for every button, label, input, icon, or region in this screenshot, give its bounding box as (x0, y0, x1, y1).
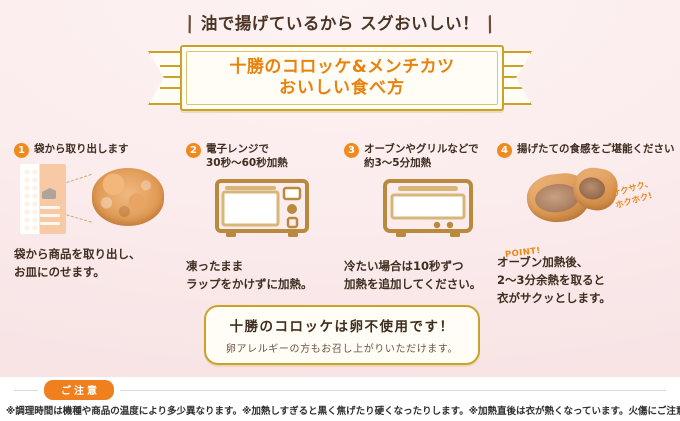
microwave-icon (214, 178, 310, 240)
dashed-line-icon (66, 174, 91, 183)
dashed-line-icon (66, 214, 91, 222)
package-icon (20, 164, 66, 234)
step-1-body: 袋から商品を取り出し、 お皿にのせます。 (14, 246, 182, 282)
step-2: 2 電子レンジで 30秒〜60秒加熱 凍ったまま ラップをかけずに加熱。 (186, 142, 338, 294)
step-4-artwork: サクサク、 ホクホク! POINT! (497, 162, 675, 240)
step-3-body: 冷たい場合は10秒ずつ 加熱を追加してください。 (344, 258, 512, 294)
step-4-number-badge: 4 (497, 143, 512, 158)
egg-free-subtext: 卵アレルギーの方もお召し上がりいただけます。 (226, 340, 458, 355)
step-2-header: 2 電子レンジで 30秒〜60秒加熱 (186, 142, 338, 170)
caution-badge: ご注意 (44, 380, 114, 400)
step-3-number-badge: 3 (344, 143, 359, 158)
step-1-header: 1 袋から取り出します (14, 142, 182, 158)
step-1-title: 袋から取り出します (34, 142, 129, 156)
step-2-artwork (186, 174, 338, 252)
tagline-slash-right: / (483, 11, 498, 36)
divider (14, 390, 38, 391)
tagline: \油で揚げているから スグおいしい！/ (0, 10, 680, 36)
ribbon-plate: 十勝のコロッケ&メンチカツ おいしい食べ方 (180, 45, 504, 111)
caution-note-3: ※加熱直後は衣が熱くなっています。火傷にご注意ください。 (469, 403, 680, 417)
caution-note-2: ※加熱しすぎると黒く焦げたり硬くなったりします。 (242, 403, 469, 417)
step-2-number-badge: 2 (186, 143, 201, 158)
caution-note-1: ※調理時間は機種や商品の温度により多少異なります。 (6, 403, 242, 417)
step-1-number-badge: 1 (14, 143, 29, 158)
steps-container: 1 袋から取り出します 袋から商品を取り出し、 お皿にのせます。 2 電子レンジ… (0, 142, 680, 292)
caution-header: ご注意 (0, 382, 680, 398)
title-ribbon: 十勝のコロッケ&メンチカツ おいしい食べ方 (180, 45, 500, 107)
ribbon-title-line2: おいしい食べ方 (279, 78, 405, 98)
croquette-photo (92, 168, 164, 226)
egg-free-notice: 十勝のコロッケは卵不使用です！ 卵アレルギーの方もお召し上がりいただけます。 (204, 305, 480, 365)
tagline-slash-left: \ (182, 11, 197, 36)
step-4: 4 揚げたての食感をご堪能ください サクサク、 ホクホク! POINT! オーブ… (497, 142, 675, 307)
step-3-header: 3 オーブンやグリルなどで 約3〜5分加熱 (344, 142, 512, 170)
step-3-title: オーブンやグリルなどで 約3〜5分加熱 (364, 142, 479, 170)
step-2-title: 電子レンジで 30秒〜60秒加熱 (206, 142, 288, 170)
step-1-artwork (14, 162, 182, 240)
egg-free-headline: 十勝のコロッケは卵不使用です！ (230, 315, 455, 335)
step-4-body: オーブン加熱後、 2〜3分余熱を取ると 衣がサクッとします。 (497, 254, 675, 307)
tagline-text: 油で揚げているから スグおいしい！ (201, 14, 479, 33)
page-root: \油で揚げているから スグおいしい！/ 十勝のコロッケ&メンチカツ おいしい食べ… (0, 0, 680, 421)
step-3: 3 オーブンやグリルなどで 約3〜5分加熱 冷たい場合は10秒ずつ 加熱を追加し… (344, 142, 512, 294)
caution-notes: ※調理時間は機種や商品の温度により多少異なります。 ※加熱しすぎると黒く焦げたり… (6, 403, 674, 417)
crispy-callout: サクサク、 ホクホク! (611, 172, 677, 213)
step-4-title: 揚げたての食感をご堪能ください (517, 142, 675, 156)
step-4-header: 4 揚げたての食感をご堪能ください (497, 142, 675, 158)
caution-section: ご注意 ※調理時間は機種や商品の温度により多少異なります。 ※加熱しすぎると黒く… (0, 377, 680, 421)
step-2-body: 凍ったまま ラップをかけずに加熱。 (186, 258, 338, 294)
oven-toaster-icon (382, 178, 474, 240)
divider (120, 390, 666, 391)
step-3-artwork (344, 174, 512, 252)
croquette-cut-photo (527, 164, 619, 226)
ribbon-title-line1: 十勝のコロッケ&メンチカツ (229, 58, 454, 78)
step-1: 1 袋から取り出します 袋から商品を取り出し、 お皿にのせます。 (14, 142, 182, 282)
